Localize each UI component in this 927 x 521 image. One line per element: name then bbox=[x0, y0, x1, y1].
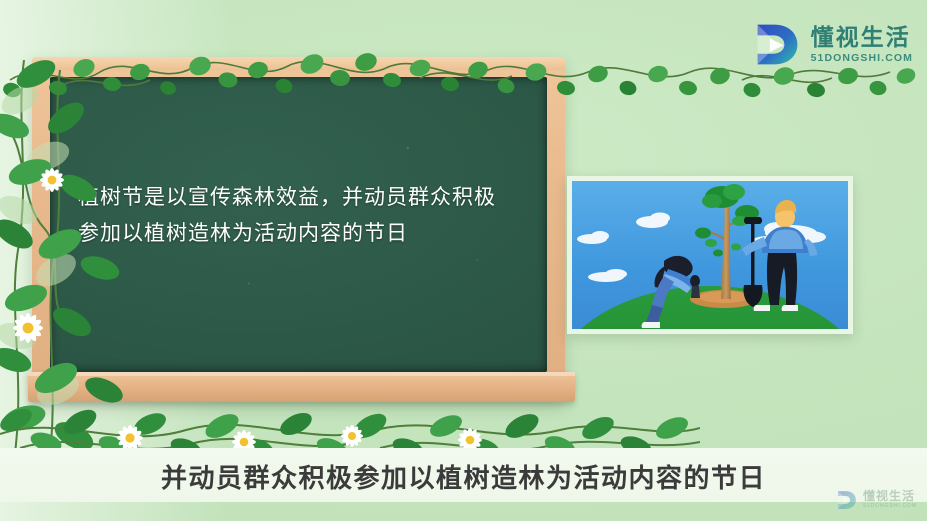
chalkboard-text: 植树节是以宣传森林效益，并动员群众积极 参加以植树造林为活动内容的节日 bbox=[78, 180, 539, 252]
brand-name-cn: 懂视生活 bbox=[811, 26, 913, 49]
tree-planting-scene bbox=[572, 181, 848, 329]
subtitle-text: 并动员群众积极参加以植树造林为活动内容的节日 bbox=[0, 455, 927, 497]
brand-logo[interactable]: 懂视生活 51DONGSHI.COM bbox=[753, 20, 913, 69]
play-in-d-icon bbox=[836, 489, 858, 511]
play-in-d-icon bbox=[753, 20, 802, 69]
brand-domain: 51DONGSHI.COM bbox=[811, 53, 913, 64]
slide-canvas: 植树节是以宣传森林效益，并动员群众积极 参加以植树造林为活动内容的节日 bbox=[0, 0, 927, 521]
watermark-domain: 51DONGSHI.COM bbox=[863, 504, 917, 510]
chalkboard: 植树节是以宣传森林效益，并动员群众积极 参加以植树造林为活动内容的节日 bbox=[32, 57, 565, 402]
watermark-name-cn: 懂视生活 bbox=[863, 490, 917, 502]
watermark-text: 懂视生活 51DONGSHI.COM bbox=[863, 490, 917, 510]
brand-text: 懂视生活 51DONGSHI.COM bbox=[811, 26, 913, 64]
illustration-panel bbox=[567, 176, 853, 334]
chalkboard-ledge bbox=[28, 372, 575, 402]
illustration-image bbox=[572, 181, 848, 329]
corner-watermark: 懂视生活 51DONGSHI.COM bbox=[836, 489, 917, 511]
